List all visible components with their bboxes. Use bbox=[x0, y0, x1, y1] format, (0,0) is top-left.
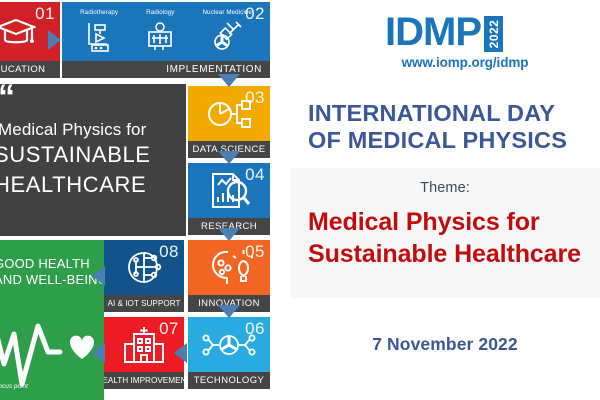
arrow-education-to-implementation bbox=[48, 30, 61, 50]
arrow-innovation-to-technology bbox=[218, 305, 240, 318]
tile-number: 02 bbox=[245, 4, 265, 24]
quote-mark: “ bbox=[0, 84, 15, 114]
arrow-implementation-to-data-science bbox=[218, 74, 240, 87]
logo-url[interactable]: www.iomp.org/idmp bbox=[385, 55, 545, 70]
arrow-ai-iot-to-green bbox=[92, 266, 105, 286]
theme-box: Theme: Medical Physics for Sustainable H… bbox=[290, 168, 600, 298]
tile-caption: AI & IOT SUPPORT bbox=[104, 295, 184, 312]
tile-number: 04 bbox=[245, 165, 265, 185]
title-line-1: INTERNATIONAL DAY bbox=[308, 100, 600, 127]
tile-number: 08 bbox=[159, 242, 179, 262]
tile-caption: EDUCATION bbox=[0, 61, 60, 78]
arrow-technology-to-health-improvement bbox=[174, 343, 187, 363]
logo-year: 2022 bbox=[487, 20, 501, 49]
right-panel: IDMP 2022 www.iomp.org/idmp INTERNATIONA… bbox=[290, 0, 600, 400]
xray-scan-icon bbox=[142, 18, 178, 54]
arrow-research-to-innovation bbox=[218, 228, 240, 241]
tile-caption: HEALTH IMPROVEMENT bbox=[104, 372, 184, 389]
green-footnote: *focus point bbox=[0, 383, 28, 390]
infographic-panel: 01 EDUCATION Radiotherapy bbox=[0, 0, 290, 400]
logo-year-box: 2022 bbox=[484, 16, 503, 52]
sub-radiology: Radiology bbox=[142, 9, 178, 54]
poster-canvas: 01 EDUCATION Radiotherapy bbox=[0, 0, 600, 400]
page-title: INTERNATIONAL DAY OF MEDICAL PHYSICS bbox=[308, 100, 600, 155]
tile-number: 07 bbox=[159, 319, 179, 339]
arrow-data-science-to-research bbox=[218, 151, 240, 164]
green-line-1: GOOD HEALTH bbox=[0, 256, 90, 271]
ecg-heart-icon bbox=[0, 312, 104, 390]
sub-label: Radiotherapy bbox=[80, 9, 118, 16]
tile-number: 06 bbox=[245, 319, 265, 339]
sub-label: Radiology bbox=[146, 9, 174, 16]
dark-line-1: Medical Physics for bbox=[0, 120, 146, 140]
theme-label: Theme: bbox=[290, 180, 600, 196]
theme-line-1: Medical Physics for bbox=[308, 208, 600, 237]
tile-health-improvement[interactable]: 07 HEALTH IMPROVEMENT bbox=[104, 317, 184, 389]
event-date: 7 November 2022 bbox=[290, 334, 600, 355]
tile-data-science[interactable]: 03 DATA SCIENCE bbox=[188, 86, 270, 158]
green-line-2: AND WELL-BEING* bbox=[0, 272, 104, 287]
tile-number: 03 bbox=[245, 88, 265, 108]
logo-wordmark: IDMP bbox=[385, 14, 481, 51]
tile-technology[interactable]: 06 TECHNOLOGY bbox=[188, 317, 270, 389]
tile-ai-iot-support[interactable]: 08 AI & IOT SUPPORT bbox=[104, 240, 184, 312]
tile-caption: TECHNOLOGY bbox=[188, 372, 270, 389]
good-health-panel: GOOD HEALTH AND WELL-BEING* *focus point bbox=[0, 240, 104, 400]
dark-line-2: SUSTAINABLE bbox=[0, 142, 151, 168]
theme-line-2: Sustainable Healthcare bbox=[308, 240, 600, 269]
tile-implementation[interactable]: Radiotherapy Radiology bbox=[62, 2, 270, 78]
sustainable-healthcare-panel: “ Medical Physics for SUSTAINABLE HEALTH… bbox=[0, 84, 186, 236]
arrow-health-improvement-to-green bbox=[92, 343, 105, 363]
tile-number: 05 bbox=[245, 242, 265, 262]
dark-line-3: HEALTHCARE bbox=[0, 172, 146, 198]
idmp-logo: IDMP 2022 bbox=[385, 14, 503, 52]
implementation-icons: Radiotherapy Radiology bbox=[62, 2, 270, 61]
syringe-radiation-icon bbox=[209, 18, 245, 54]
tile-number: 01 bbox=[35, 4, 55, 24]
tile-innovation[interactable]: 05 INNOVATION bbox=[188, 240, 270, 312]
radiotherapy-machine-icon bbox=[81, 18, 117, 54]
sub-radiotherapy: Radiotherapy bbox=[80, 9, 118, 54]
title-line-2: OF MEDICAL PHYSICS bbox=[308, 127, 600, 154]
tile-research[interactable]: 04 RESEARCH bbox=[188, 163, 270, 235]
